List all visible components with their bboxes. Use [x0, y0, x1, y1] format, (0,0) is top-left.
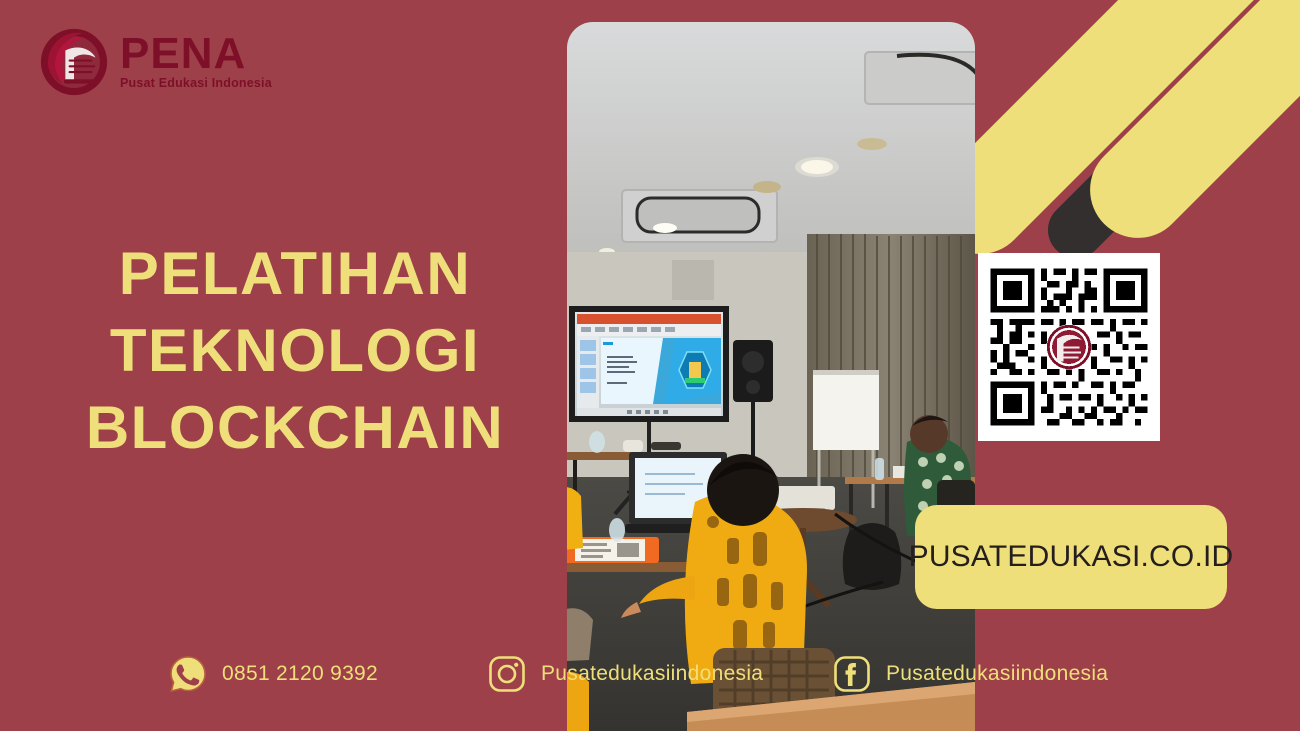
- headline-line-3: BLOCKCHAIN: [60, 390, 530, 467]
- whatsapp-icon: [168, 654, 208, 694]
- facebook-handle: Pusatedukasiindonesia: [886, 662, 1108, 686]
- diagonal-bar-dark: [1036, 0, 1300, 270]
- website-label: PUSATEDUKASI.CO.ID: [909, 540, 1234, 574]
- training-photo: [567, 22, 975, 731]
- headline-line-1: PELATIHAN: [60, 236, 530, 313]
- headline-line-2: TEKNOLOGI: [60, 313, 530, 390]
- whatsapp-number: 0851 2120 9392: [222, 662, 378, 686]
- contact-instagram[interactable]: Pusatedukasiindonesia: [487, 652, 763, 696]
- instagram-icon: [487, 654, 527, 694]
- qr-code[interactable]: [978, 253, 1160, 441]
- logo-tagline: Pusat Edukasi Indonesia: [120, 76, 272, 90]
- contact-whatsapp[interactable]: 0851 2120 9392: [168, 652, 378, 696]
- brand-logo: PENA Pusat Edukasi Indonesia: [38, 26, 272, 98]
- diagonal-bar-yellow-inner: [1070, 0, 1300, 258]
- instagram-handle: Pusatedukasiindonesia: [541, 662, 763, 686]
- logo-wordmark: PENA: [120, 34, 272, 74]
- pena-feather-circle-logo-icon: [38, 26, 110, 98]
- contact-facebook[interactable]: Pusatedukasiindonesia: [832, 652, 1108, 696]
- poster-canvas: PENA Pusat Edukasi Indonesia PELATIHAN T…: [0, 0, 1300, 731]
- facebook-icon: [832, 654, 872, 694]
- website-badge[interactable]: PUSATEDUKASI.CO.ID: [915, 505, 1227, 609]
- page-title: PELATIHAN TEKNOLOGI BLOCKCHAIN: [60, 236, 530, 466]
